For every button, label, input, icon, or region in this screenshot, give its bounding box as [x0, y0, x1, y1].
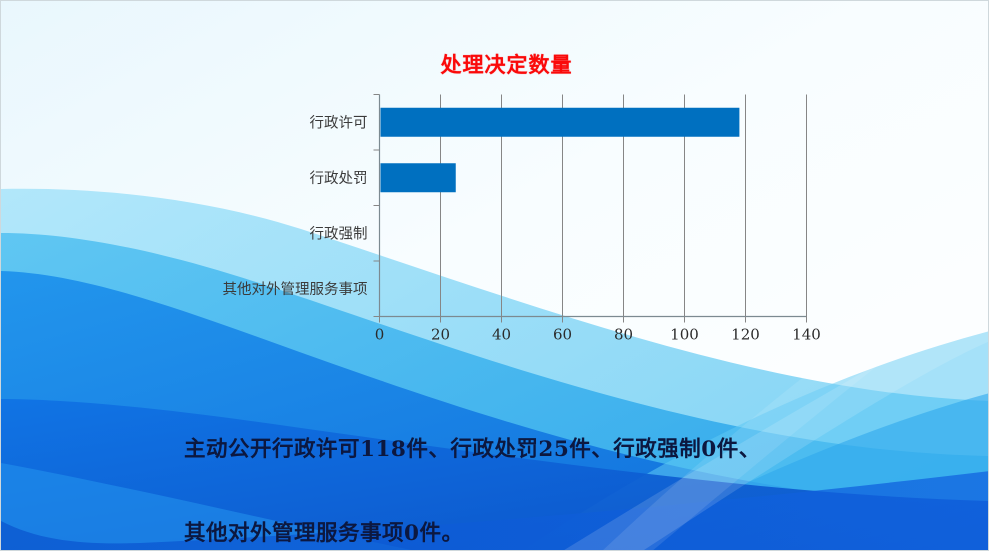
- category-label-0: 行政许可: [310, 114, 368, 131]
- bar-0: [381, 108, 740, 137]
- slide-caption: 主动公开行政许可118件、行政处罚25件、行政强制0件、 其他对外管理服务事项0…: [184, 387, 884, 551]
- caption-line-1: 主动公开行政许可118件、行政处罚25件、行政强制0件、: [184, 429, 884, 471]
- chart-bars: [381, 108, 740, 193]
- x-tick-label-100: 100: [670, 326, 699, 344]
- bar-chart: 处理决定数量 行政许可行政处罚行政强制其他对外管理服务事项 0204060801…: [1, 1, 989, 371]
- chart-category-labels: 行政许可行政处罚行政强制其他对外管理服务事项: [223, 114, 368, 298]
- caption-line-2: 其他对外管理服务事项0件。: [184, 513, 884, 551]
- chart-x-tick-labels: 020406080100120140: [375, 326, 821, 344]
- category-label-2: 行政强制: [310, 225, 368, 242]
- category-label-1: 行政处罚: [310, 170, 368, 187]
- x-tick-label-20: 20: [431, 326, 450, 344]
- x-tick-label-120: 120: [731, 326, 760, 344]
- chart-plot: 行政许可行政处罚行政强制其他对外管理服务事项 02040608010012014…: [1, 1, 989, 371]
- presentation-slide: 处理决定数量 行政许可行政处罚行政强制其他对外管理服务事项 0204060801…: [0, 0, 989, 551]
- x-tick-label-40: 40: [492, 326, 511, 344]
- x-tick-label-60: 60: [553, 326, 572, 344]
- x-tick-label-140: 140: [792, 326, 821, 344]
- bar-1: [381, 163, 456, 192]
- x-tick-label-0: 0: [375, 326, 385, 344]
- x-tick-label-80: 80: [614, 326, 633, 344]
- category-label-3: 其他对外管理服务事项: [223, 281, 368, 298]
